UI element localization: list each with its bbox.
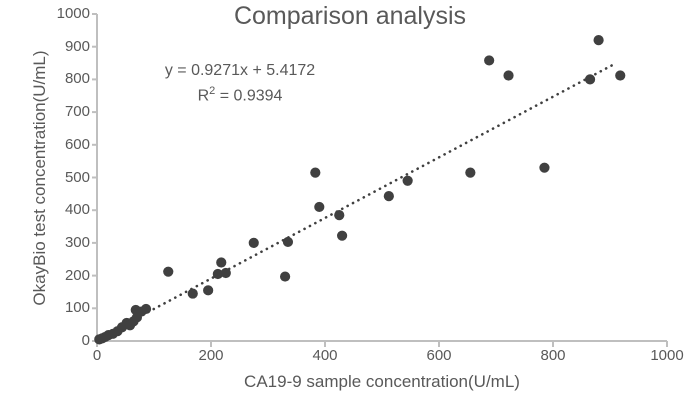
data-point [384,191,394,201]
data-point [141,304,151,314]
data-point [280,271,290,281]
data-point [310,167,320,177]
data-point [403,176,413,186]
data-point [465,167,475,177]
data-point [594,35,604,45]
data-point [249,238,259,248]
data-point [585,74,595,84]
scatter-chart: Comparison analysis y = 0.9271x + 5.4172… [0,0,695,406]
data-point [221,268,231,278]
data-point [216,257,226,267]
trendline [100,65,613,338]
data-point [337,231,347,241]
data-point [188,288,198,298]
data-point [484,55,494,65]
data-point [615,70,625,80]
data-point [203,285,213,295]
data-point [539,163,549,173]
data-point [163,267,173,277]
data-point [314,202,324,212]
data-point [503,70,513,80]
data-point [283,237,293,247]
data-point [334,210,344,220]
plot-area [0,0,695,406]
